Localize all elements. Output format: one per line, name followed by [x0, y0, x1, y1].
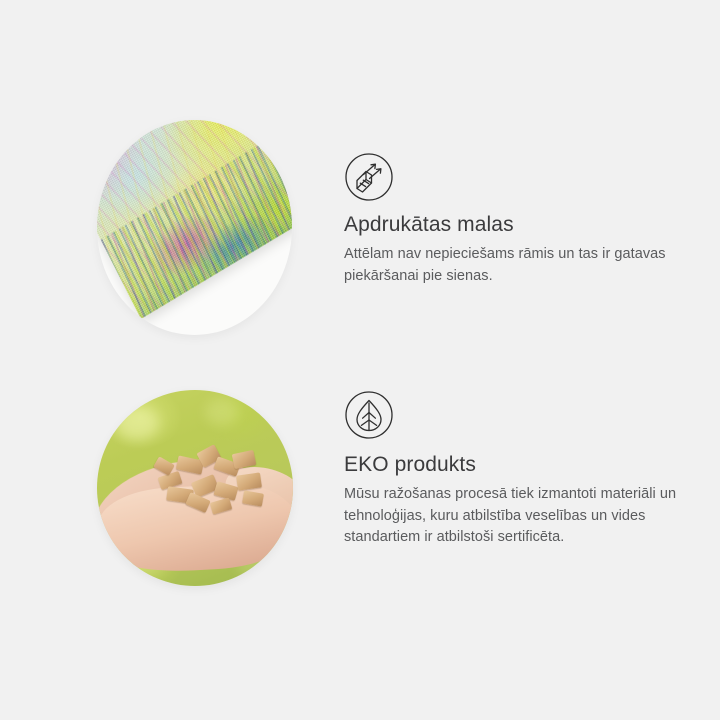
canvas-printed-face: [97, 120, 292, 319]
feature-block-eco-product: EKO produkts Mūsu ražošanas procesā tiek…: [0, 390, 720, 590]
canvas-print-corner-photo: [97, 120, 292, 335]
eco-product-text: EKO produkts Mūsu ražošanas procesā tiek…: [344, 452, 694, 549]
wood-chips-pile: [153, 444, 265, 514]
printed-edges-text: Apdrukātas malas Attēlam nav nepieciešam…: [344, 212, 694, 287]
wood-chip: [232, 450, 257, 469]
feature-description: Mūsu ražošanas procesā tiek izmantoti ma…: [344, 484, 694, 549]
feature-block-printed-edges: Apdrukātas malas Attēlam nav nepieciešam…: [0, 120, 720, 340]
wood-chip: [236, 472, 262, 490]
hands-holding-wood-chips-photo: [97, 390, 293, 586]
eco-photo-background: [97, 390, 293, 586]
bokeh-highlight: [115, 406, 159, 440]
printed-edges-icon: [344, 152, 394, 202]
product-feature-infographic: Apdrukātas malas Attēlam nav nepieciešam…: [0, 0, 720, 720]
wood-chip: [242, 490, 264, 506]
feature-description: Attēlam nav nepieciešams rāmis un tas ir…: [344, 244, 694, 287]
wood-chip: [185, 492, 210, 513]
feature-title: Apdrukātas malas: [344, 212, 694, 238]
leaf-icon: [344, 390, 394, 440]
wood-chip: [210, 497, 233, 514]
canvas-weave-texture: [97, 120, 292, 319]
feature-title: EKO produkts: [344, 452, 694, 478]
bokeh-highlight: [205, 398, 239, 426]
canvas-print-illustration: [117, 120, 292, 335]
